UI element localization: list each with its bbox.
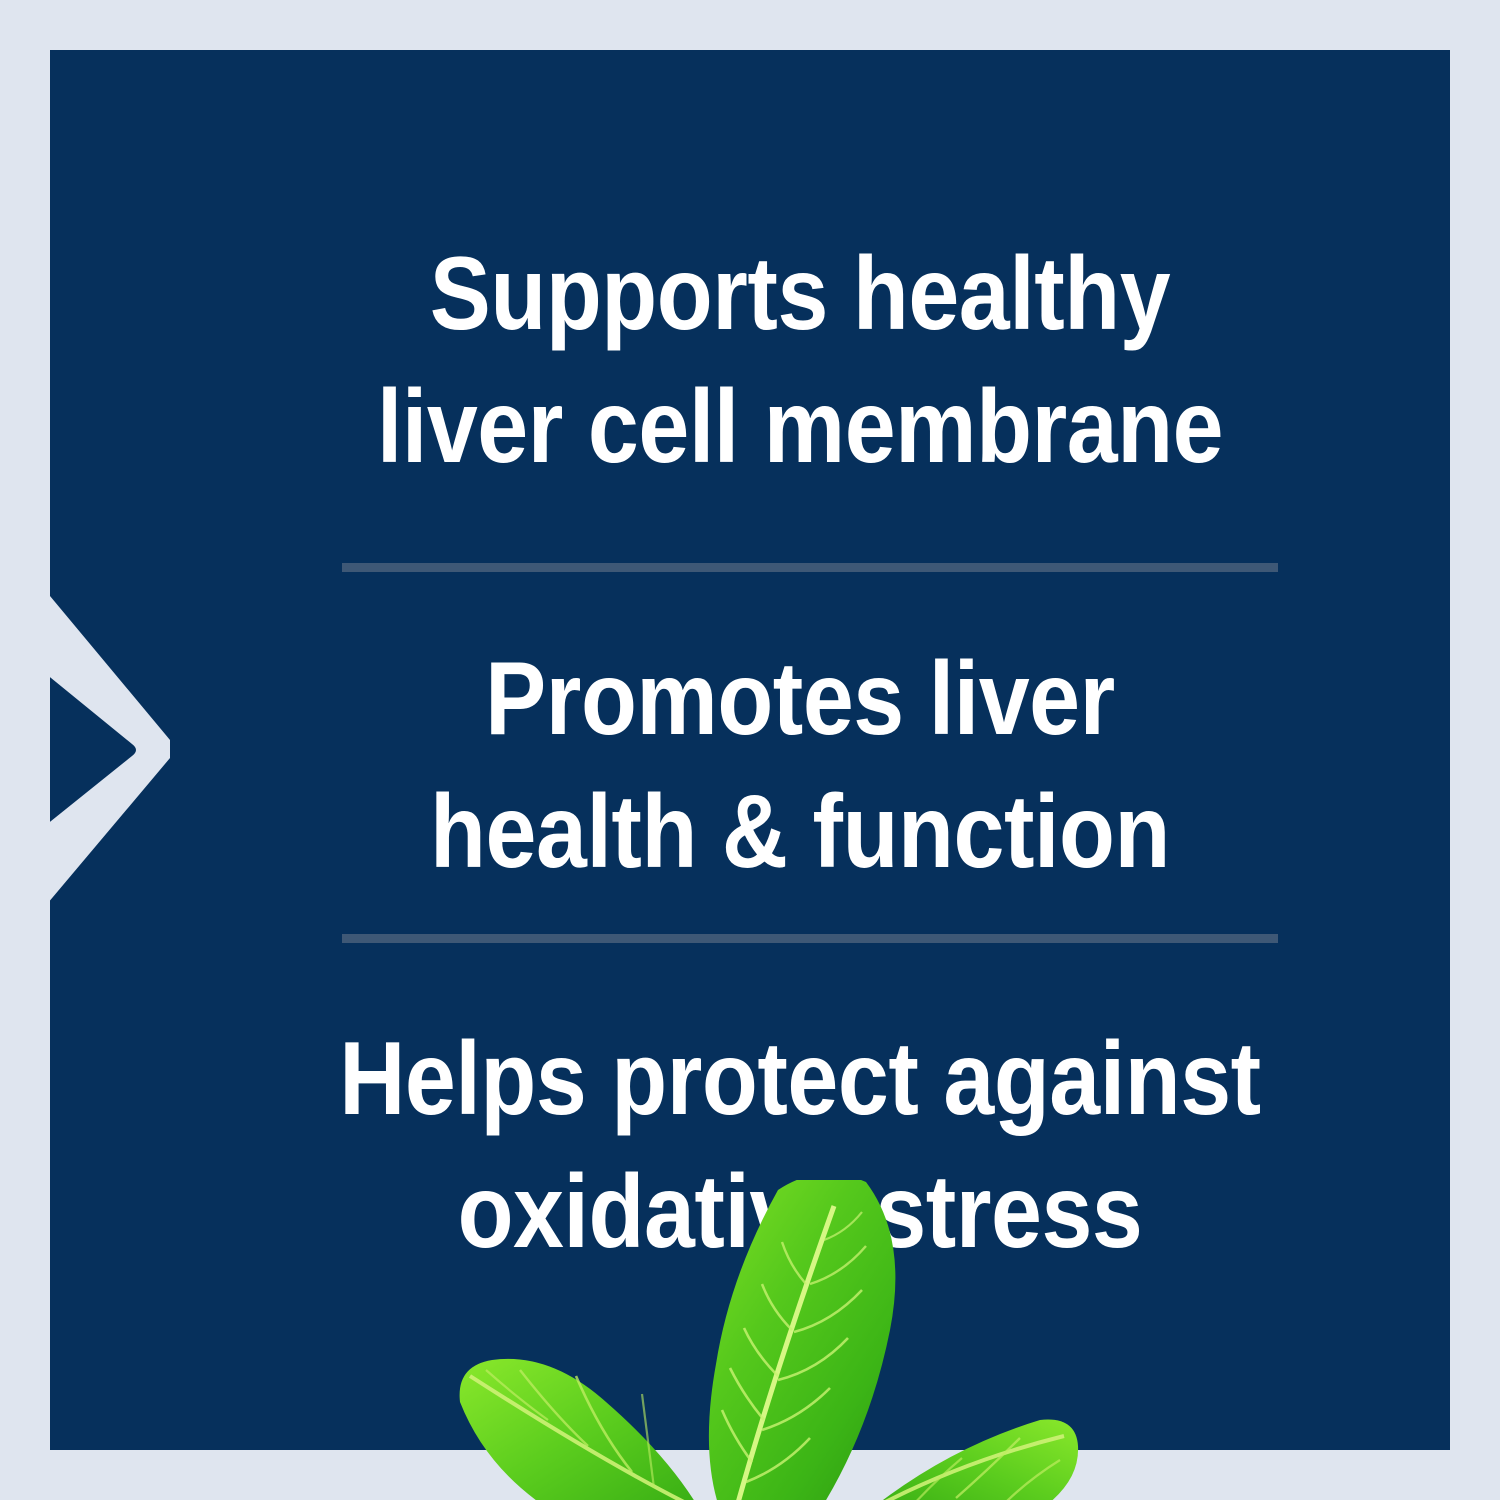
leaf-left bbox=[460, 1359, 700, 1500]
green-leaves-icon bbox=[400, 1180, 1120, 1500]
leaf-right bbox=[870, 1420, 1078, 1500]
benefit-divider-2 bbox=[342, 934, 1278, 943]
benefit-2-line-2: health & function bbox=[140, 766, 1450, 899]
benefit-item-1: Supports healthy liver cell membrane bbox=[140, 228, 1450, 494]
benefits-callout-panel: Supports healthy liver cell membrane Pro… bbox=[0, 0, 1500, 1500]
benefit-divider-1 bbox=[342, 563, 1278, 572]
benefit-item-2: Promotes liver health & function bbox=[140, 633, 1450, 899]
leaf-center bbox=[709, 1180, 896, 1500]
benefit-3-line-1: Helps protect against bbox=[140, 1013, 1450, 1146]
benefit-1-line-2: liver cell membrane bbox=[140, 361, 1450, 494]
benefit-1-line-1: Supports healthy bbox=[140, 228, 1450, 361]
benefit-2-line-1: Promotes liver bbox=[140, 633, 1450, 766]
